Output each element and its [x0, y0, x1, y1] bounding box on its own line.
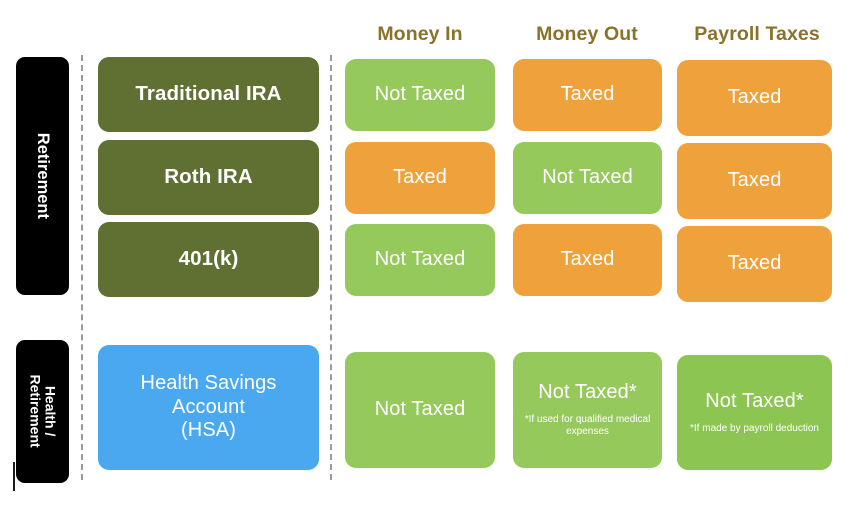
stray-mark: [13, 462, 15, 491]
cell-payroll-taxes-hsa: Not Taxed* *If made by payroll deduction: [677, 355, 832, 470]
cell-money-out-roth-ira: Not Taxed: [513, 142, 662, 214]
account-label-line-1: Health Savings: [141, 372, 277, 396]
cell-money-in-roth-ira: Taxed: [345, 142, 495, 214]
account-label: 401(k): [179, 247, 239, 271]
divider-left-dashed: [81, 55, 83, 480]
cell-payroll-taxes-roth-ira: Taxed: [677, 143, 832, 219]
category-tab-retirement: Retirement: [16, 57, 69, 295]
category-tab-health-retirement-label: Health / Retirement: [27, 375, 57, 448]
tax-treatment-comparison-chart: Money In Money Out Payroll Taxes Retirem…: [0, 0, 853, 513]
cell-footnote: *If made by payroll deduction: [681, 423, 828, 436]
cell-label: Not Taxed: [375, 83, 466, 107]
cell-payroll-taxes-401k: Taxed: [677, 226, 832, 302]
account-card-401k: 401(k): [98, 222, 319, 297]
cell-label: Taxed: [561, 83, 615, 107]
cell-money-in-401k: Not Taxed: [345, 224, 495, 296]
column-header-money-in: Money In: [345, 21, 495, 47]
cell-money-in-hsa: Not Taxed: [345, 352, 495, 468]
cell-footnote: *If used for qualified medical expenses: [513, 414, 662, 439]
cell-label: Not Taxed: [542, 166, 633, 190]
cell-money-in-traditional-ira: Not Taxed: [345, 59, 495, 131]
cell-label: Not Taxed*: [705, 390, 803, 414]
divider-middle-dashed: [330, 55, 332, 480]
account-label: Traditional IRA: [135, 82, 281, 106]
category-tab-retirement-label: Retirement: [34, 133, 52, 219]
cell-payroll-taxes-traditional-ira: Taxed: [677, 60, 832, 136]
cell-label: Taxed: [393, 166, 447, 190]
account-card-roth-ira: Roth IRA: [98, 140, 319, 215]
cell-label: Taxed: [728, 252, 782, 276]
cell-label: Taxed: [728, 169, 782, 193]
account-label: Roth IRA: [164, 165, 252, 189]
cell-money-out-hsa: Not Taxed* *If used for qualified medica…: [513, 352, 662, 468]
account-card-hsa: Health Savings Account (HSA): [98, 345, 319, 470]
cell-money-out-traditional-ira: Taxed: [513, 59, 662, 131]
account-label-line-2: Account: [172, 396, 245, 420]
column-header-payroll-taxes: Payroll Taxes: [677, 21, 837, 47]
account-label-line-3: (HSA): [181, 419, 236, 443]
cell-label: Taxed: [561, 248, 615, 272]
cell-label: Taxed: [728, 86, 782, 110]
category-tab-health-retirement: Health / Retirement: [16, 340, 69, 483]
cell-label: Not Taxed: [375, 248, 466, 272]
column-header-money-out: Money Out: [512, 21, 662, 47]
account-card-traditional-ira: Traditional IRA: [98, 57, 319, 132]
cell-label: Not Taxed*: [538, 381, 636, 405]
cell-label: Not Taxed: [375, 398, 466, 422]
cell-money-out-401k: Taxed: [513, 224, 662, 296]
